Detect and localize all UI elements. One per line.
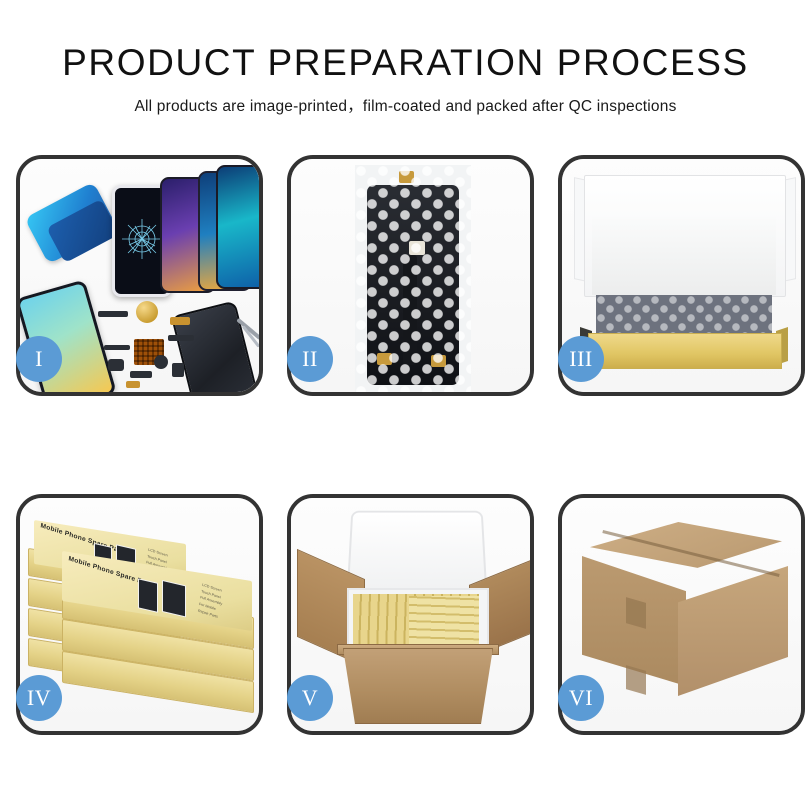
process-step-panel-4[interactable]: Mobile Phone Spare Parts LCD ScreenTouch… <box>16 494 263 735</box>
packed-retail-boxes-row2 <box>409 596 479 644</box>
bubble-wrap-texture <box>355 165 471 392</box>
part-strip-1 <box>98 311 128 317</box>
box-art-screen-b2 <box>162 580 186 617</box>
step-badge-4: IV <box>16 675 62 721</box>
gold-connector-2 <box>126 381 140 388</box>
process-panel-grid: I II <box>16 155 795 735</box>
process-step-panel-2[interactable]: II <box>287 155 534 396</box>
part-strip-4 <box>168 335 194 341</box>
carton-tape-patch-top <box>626 597 646 629</box>
gold-connector-1 <box>170 317 190 325</box>
step-badge-2: II <box>287 336 333 382</box>
foam-liner <box>592 217 776 295</box>
retail-box-label-back: Mobile Phone Spare Parts <box>40 522 127 556</box>
sealed-carton <box>582 522 788 712</box>
carton-right-face <box>678 566 788 696</box>
phone-teal-gradient-icon <box>216 165 259 289</box>
bubble-wrapped-contents <box>596 295 772 333</box>
box-art-screen-b1 <box>138 578 158 613</box>
retail-box-stack: Mobile Phone Spare Parts LCD ScreenTouch… <box>28 516 252 722</box>
process-step-panel-6[interactable]: VI <box>558 494 805 735</box>
box-spec-lines-front: LCD ScreenTouch PanelFull AssemblyFor Mo… <box>198 582 225 621</box>
page-subtitle: All products are image-printed，film-coat… <box>0 94 811 116</box>
bubble-wrap-bag <box>355 165 471 392</box>
part-block-1 <box>108 359 124 371</box>
shatter-pattern-icon <box>120 217 164 261</box>
step-badge-6: VI <box>558 675 604 721</box>
phone-back-housing-icon <box>171 301 259 392</box>
part-round-1 <box>154 355 168 369</box>
speaker-module-icon <box>136 301 158 323</box>
process-step-panel-5[interactable]: V <box>287 494 534 735</box>
carton-tape-patch-bottom <box>626 665 646 695</box>
process-step-panel-1[interactable]: I <box>16 155 263 396</box>
step-badge-5: V <box>287 675 333 721</box>
part-block-2 <box>172 363 184 377</box>
foam-lid <box>346 511 487 596</box>
part-strip-2 <box>104 345 130 350</box>
box-front-kraft <box>588 333 782 369</box>
page-header: PRODUCT PREPARATION PROCESS All products… <box>0 0 811 116</box>
step-badge-3: III <box>558 336 604 382</box>
part-strip-3 <box>130 371 152 378</box>
process-step-panel-3[interactable]: III <box>558 155 805 396</box>
carton-body <box>343 648 493 724</box>
step-badge-1: I <box>16 336 62 382</box>
page-title: PRODUCT PREPARATION PROCESS <box>0 44 811 83</box>
